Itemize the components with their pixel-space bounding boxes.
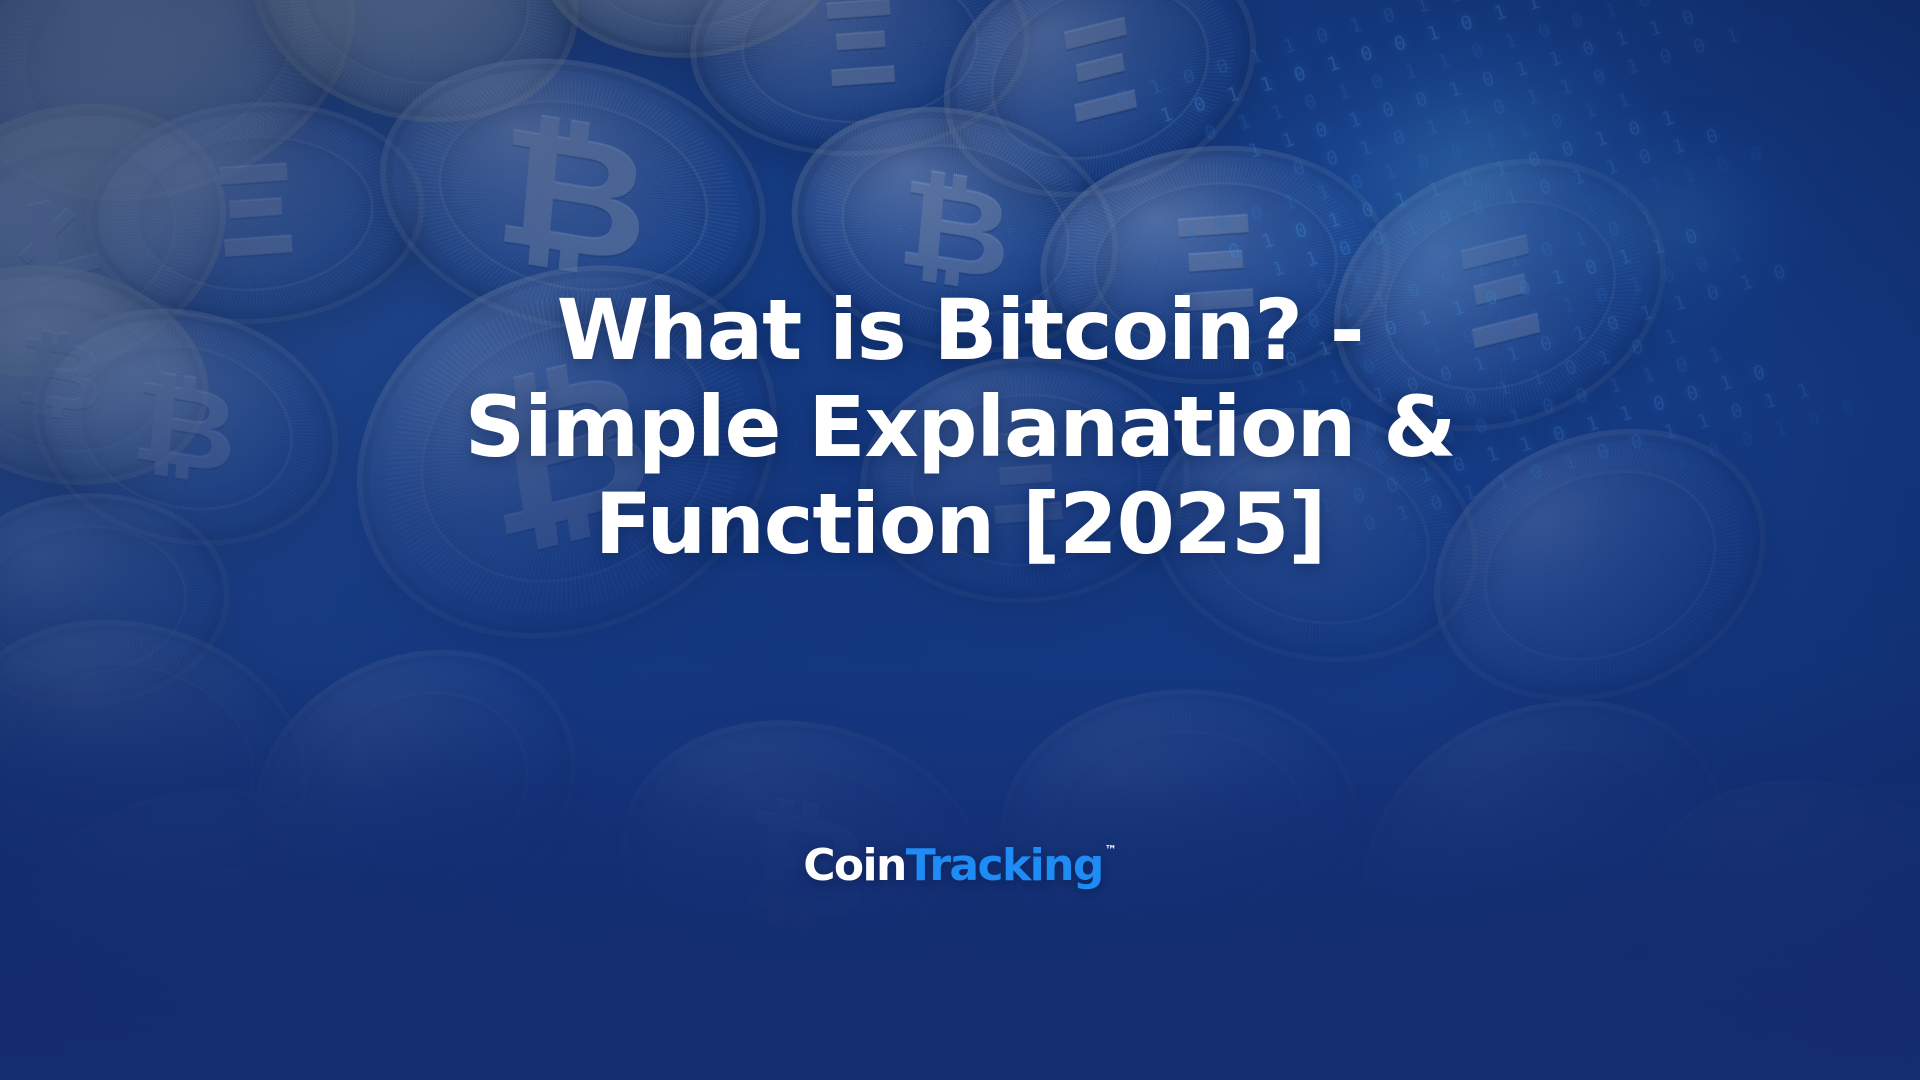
trademark-icon: ™ bbox=[1105, 844, 1117, 856]
cointracking-logo[interactable]: CoinTracking™ bbox=[0, 844, 1920, 888]
banner-content: What is Bitcoin? - Simple Explanation & … bbox=[0, 0, 1920, 1080]
article-hero-banner: Ł ₿ Ξ ₿ ₿ ₿ Ξ Ξ ₿ bbox=[0, 0, 1920, 1080]
page-title-line-1: What is Bitcoin? - bbox=[320, 282, 1600, 379]
page-title-line-2: Simple Explanation & bbox=[320, 379, 1600, 476]
page-title: What is Bitcoin? - Simple Explanation & … bbox=[0, 282, 1920, 573]
logo-word-coin: Coin bbox=[803, 844, 906, 888]
page-title-line-3: Function [2025] bbox=[320, 476, 1600, 573]
logo-wordmark: CoinTracking™ bbox=[803, 844, 1117, 888]
logo-word-tracking: Tracking bbox=[906, 844, 1103, 888]
